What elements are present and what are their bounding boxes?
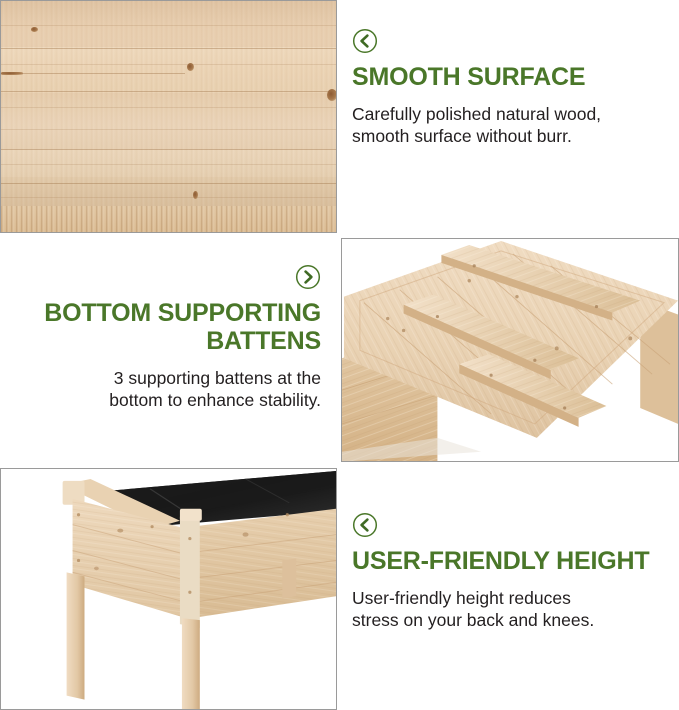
wood-knot — [193, 191, 198, 199]
wood-grain-seam — [1, 48, 336, 49]
feature-heading: BOTTOM SUPPORTING BATTENS — [14, 299, 321, 355]
feature-body-line: stress on your back and knees. — [352, 609, 669, 631]
planter-leg-rear — [282, 558, 296, 598]
wood-grain-seam — [1, 107, 336, 108]
text-panel-user-friendly-height: USER-FRIENDLY HEIGHT User-friendly heigh… — [341, 468, 679, 710]
chevron-right-circle-icon[interactable] — [295, 264, 321, 290]
wood-plank-band — [1, 1, 336, 47]
feature-body-line: 3 supporting battens at the — [14, 367, 321, 389]
wood-knot — [327, 89, 337, 101]
feature-body: User-friendly height reduces stress on y… — [352, 587, 669, 631]
feature-body-line: smooth surface without burr. — [352, 125, 665, 147]
planter-leg-front-right — [182, 618, 200, 709]
feature-heading: USER-FRIENDLY HEIGHT — [352, 547, 669, 575]
chevron-left-circle-icon[interactable] — [352, 28, 378, 54]
image-panel-bottom-supporting-battens — [341, 238, 679, 462]
wood-knot — [31, 27, 38, 32]
image-panel-smooth-surface — [0, 0, 337, 233]
wood-grain-seam — [1, 64, 336, 65]
feature-heading-line: BOTTOM SUPPORTING — [14, 299, 321, 327]
raised-planter-illustration — [1, 469, 336, 710]
wood-grain-seam — [1, 183, 336, 184]
text-panel-bottom-supporting-battens: BOTTOM SUPPORTING BATTENS 3 supporting b… — [0, 238, 337, 462]
wood-grain-seam — [1, 149, 336, 150]
feature-body-line: Carefully polished natural wood, — [352, 103, 665, 125]
feature-body-line: bottom to enhance stability. — [14, 389, 321, 411]
wood-grain-seam — [1, 164, 336, 165]
wood-end-grain-edge — [1, 206, 336, 232]
wood-grain-seam — [1, 91, 336, 92]
planter-leg-front-left — [67, 572, 85, 699]
wood-grain-seam — [1, 25, 336, 26]
battens-underside-illustration — [342, 239, 678, 462]
corner-post-near-cap — [180, 509, 202, 521]
image-panel-user-friendly-height — [0, 468, 337, 710]
feature-body: 3 supporting battens at the bottom to en… — [14, 367, 321, 411]
wood-knot — [187, 63, 194, 71]
wood-knot — [1, 72, 23, 75]
feature-body: Carefully polished natural wood, smooth … — [352, 103, 665, 147]
feature-heading-line: BATTENS — [14, 327, 321, 355]
wood-grain-seam — [1, 73, 185, 74]
feature-body-line: User-friendly height reduces — [352, 587, 669, 609]
chevron-left-circle-icon[interactable] — [352, 512, 378, 538]
wood-plank-band — [1, 93, 336, 149]
text-panel-smooth-surface: SMOOTH SURFACE Carefully polished natura… — [341, 0, 679, 233]
infographic-page: SMOOTH SURFACE Carefully polished natura… — [0, 0, 679, 710]
feature-heading: SMOOTH SURFACE — [352, 63, 665, 91]
wood-grain-seam — [1, 129, 336, 130]
wood-grain-seam — [1, 197, 336, 198]
corner-post-near — [180, 513, 200, 628]
